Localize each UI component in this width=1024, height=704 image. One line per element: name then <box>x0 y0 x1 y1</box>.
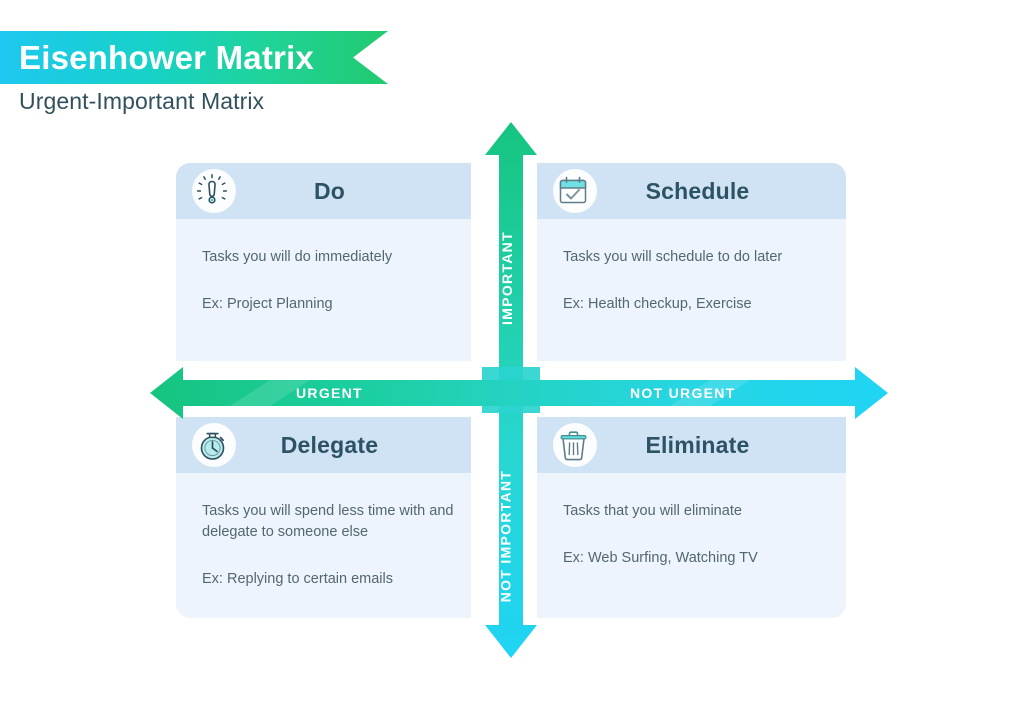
axis-label-not-important: NOT IMPORTANT <box>497 470 513 603</box>
quadrant-schedule-body: Tasks you will schedule to do later Ex: … <box>537 219 846 315</box>
calendar-check-icon <box>549 167 597 215</box>
quadrant-do-header: Do <box>176 163 471 219</box>
axis-urgent <box>150 364 888 422</box>
quadrant-delegate-header: Delegate <box>176 417 471 473</box>
trash-bin-icon <box>549 421 597 469</box>
quadrant-eliminate-example: Ex: Web Surfing, Watching TV <box>563 548 846 569</box>
quadrant-do-description: Tasks you will do immediately <box>202 247 457 268</box>
quadrant-do-body: Tasks you will do immediately Ex: Projec… <box>176 219 471 315</box>
quadrant-schedule-description: Tasks you will schedule to do later <box>563 247 818 268</box>
quadrant-eliminate-body: Tasks that you will eliminate Ex: Web Su… <box>537 473 846 569</box>
quadrant-delegate-body: Tasks you will spend less time with and … <box>176 473 471 590</box>
eisenhower-matrix: Do Tasks you will do immediately Ex: Pro… <box>0 0 1024 704</box>
quadrant-delegate-title: Delegate <box>236 432 423 459</box>
quadrant-do[interactable]: Do Tasks you will do immediately Ex: Pro… <box>176 163 471 361</box>
quadrant-eliminate-title: Eliminate <box>597 432 798 459</box>
axis-label-not-urgent: NOT URGENT <box>630 385 736 401</box>
quadrant-do-example: Ex: Project Planning <box>202 294 471 315</box>
quadrant-do-title: Do <box>236 178 423 205</box>
quadrant-delegate-description: Tasks you will spend less time with and … <box>202 501 457 543</box>
exclamation-alert-icon <box>188 167 236 215</box>
stopwatch-icon <box>188 421 236 469</box>
axis-label-urgent: URGENT <box>296 385 363 401</box>
quadrant-delegate[interactable]: Delegate Tasks you will spend less time … <box>176 417 471 618</box>
quadrant-schedule-example: Ex: Health checkup, Exercise <box>563 294 846 315</box>
quadrant-eliminate[interactable]: Eliminate Tasks that you will eliminate … <box>537 417 846 618</box>
quadrant-schedule-title: Schedule <box>597 178 798 205</box>
quadrant-delegate-example: Ex: Replying to certain emails <box>202 569 471 590</box>
axis-label-important: IMPORTANT <box>499 231 515 325</box>
quadrant-eliminate-description: Tasks that you will eliminate <box>563 501 818 522</box>
quadrant-eliminate-header: Eliminate <box>537 417 846 473</box>
quadrant-schedule-header: Schedule <box>537 163 846 219</box>
quadrant-schedule[interactable]: Schedule Tasks you will schedule to do l… <box>537 163 846 361</box>
